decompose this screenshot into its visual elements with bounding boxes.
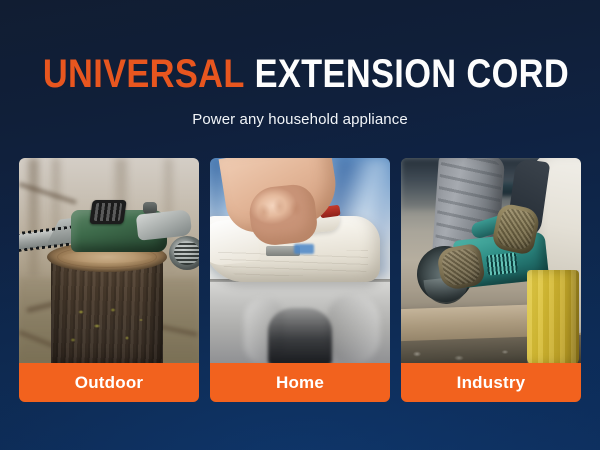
headline-main-words: [245, 52, 255, 96]
category-card-list: Outdoor Home: [19, 158, 581, 402]
fabric-fold: [326, 294, 380, 363]
yellow-bucket: [527, 270, 579, 363]
tree-trunk-blur: [29, 158, 38, 278]
card-label-outdoor[interactable]: Outdoor: [19, 363, 199, 402]
steam-iron-blue-trim: [294, 244, 314, 254]
card-label-home[interactable]: Home: [210, 363, 390, 402]
subtitle: Power any household appliance: [0, 111, 600, 128]
knuckles-shading: [252, 189, 314, 235]
card-label-industry[interactable]: Industry: [401, 363, 581, 402]
fabric-drape: [268, 308, 332, 363]
headline-accent-word: UNIVERSAL: [43, 52, 245, 96]
product-banner: UNIVERSAL EXTENSION CORD Power any house…: [0, 0, 600, 450]
outdoor-chainsaw-image: [19, 158, 199, 363]
headline-container: UNIVERSAL EXTENSION CORD: [0, 52, 600, 96]
concrete-saw-vent: [486, 252, 518, 275]
headline-main-text: EXTENSION CORD: [255, 52, 569, 96]
industry-concrete-saw-image: [401, 158, 581, 363]
branch: [19, 182, 77, 204]
category-card-home[interactable]: Home: [210, 158, 390, 402]
home-ironing-image: [210, 158, 390, 363]
category-card-outdoor[interactable]: Outdoor: [19, 158, 199, 402]
page-title: UNIVERSAL EXTENSION CORD: [43, 52, 569, 96]
chainsaw-vent-grill: [89, 200, 126, 224]
chainsaw-motor-endcap: [169, 236, 199, 270]
category-card-industry[interactable]: Industry: [401, 158, 581, 402]
